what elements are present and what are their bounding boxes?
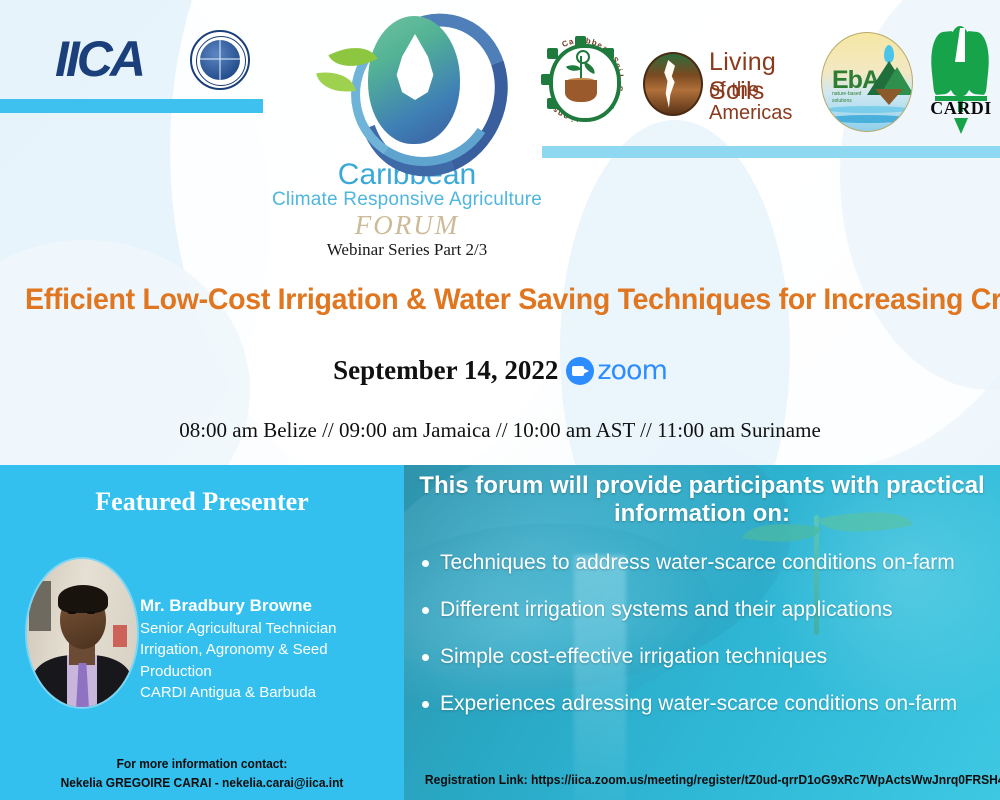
registration-link[interactable]: Registration Link: https://iica.zoom.us/… [425,772,979,787]
accent-bar-left [0,99,263,113]
eba-logo: EbA nature-based solutions [821,32,913,132]
list-item: Different irrigation systems and their a… [404,599,1000,620]
forum-logo-line2: Climate Responsive Agriculture [272,190,542,211]
presenter-role-line2: Irrigation, Agronomy & Seed Production [140,639,402,682]
list-item: Experiences adressing water-scarce condi… [404,693,1000,714]
presenter-name: Mr. Bradbury Browne [140,596,402,616]
plant-pot-icon [565,80,597,102]
event-title: Efficient Low-Cost Irrigation & Water Sa… [25,283,975,317]
list-item: Techniques to address water-scarce condi… [404,552,1000,573]
zoom-wordmark: zoom [597,355,667,386]
contact-info: For more information contact: Nekelia GR… [16,755,388,793]
iica-seal-icon [190,30,250,90]
contact-label: For more information contact: [16,755,388,774]
list-item: Simple cost-effective irrigation techniq… [404,646,1000,667]
content-bullet-list: Techniques to address water-scarce condi… [404,552,1000,740]
forum-logo: Caribbean Climate Responsive Agriculture… [272,8,542,270]
living-soils-of-the-americas-logo: Living Soils of the Americas [643,46,835,116]
zoom-logo: zoom [566,355,667,386]
event-date: September 14, 2022 [333,355,558,386]
featured-presenter-heading: Featured Presenter [0,487,404,517]
water-drop-leaf-icon [272,8,542,158]
living-soils-line2: of the Americas [709,79,835,125]
cardi-wordmark: CARDI [927,98,995,119]
presenter-avatar [27,559,137,707]
presenter-role-line1: Senior Agricultural Technician [140,618,402,639]
event-timezones: 08:00 am Belize // 09:00 am Jamaica // 1… [0,418,1000,443]
forum-logo-line3: FORUM [272,211,542,239]
video-camera-icon [566,357,594,385]
contact-person[interactable]: Nekelia GREGOIRE CARAI - nekelia.carai@i… [16,774,388,793]
accent-bar-right [542,146,1000,158]
presenter-details: Senior Agricultural Technician Irrigatio… [140,618,402,704]
partner-logos: C a r i b b e a n S o i l - C e n t r i [525,18,1000,140]
eba-tagline: nature-based solutions [832,91,876,105]
webinar-series-label: Webinar Series Part 2/3 [272,240,542,260]
cardi-logo: CARDI [925,26,997,136]
webinar-flyer: IICA Caribbean Climate Responsive Agricu… [0,0,1000,800]
iica-logo: IICA [55,28,255,90]
content-intro: This forum will provide participants wit… [404,472,1000,529]
caribbean-soil-centric-actions-logo: C a r i b b e a n S o i l - C e n t r i [525,22,637,138]
americas-map-icon [643,52,703,116]
presenter-role-line3: CARDI Antigua & Barbuda [140,682,402,703]
event-date-row: September 14, 2022 zoom [0,355,1000,386]
